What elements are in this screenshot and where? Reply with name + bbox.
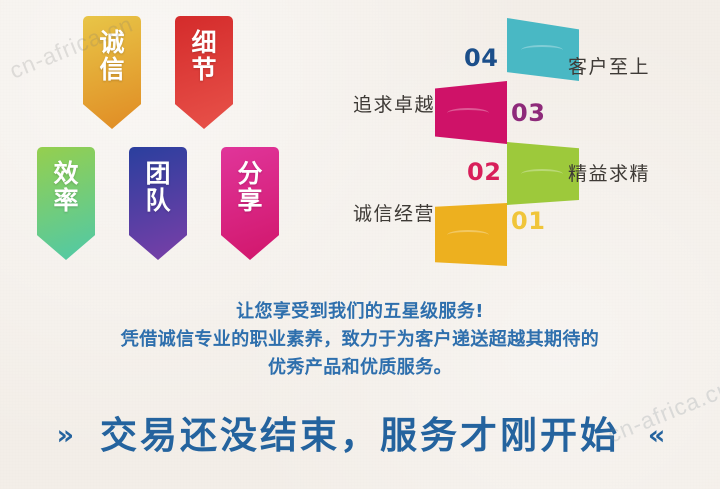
bottom-headline: » 交易还没结束，服务才刚开始 « [0, 405, 720, 459]
ribbon-char-top: 诚 [99, 29, 124, 56]
ribbon-detail: 细 节 [175, 16, 233, 129]
step-label-03: 追求卓越 [353, 90, 435, 117]
ribbon-char-bottom: 队 [145, 187, 170, 214]
step-crease-icon [447, 108, 489, 118]
step-crease-icon [521, 169, 563, 179]
ribbon-char-top: 团 [145, 160, 170, 187]
ribbon-char-bottom: 节 [191, 56, 216, 83]
ribbon-char-bottom: 信 [99, 56, 124, 83]
ribbon-char-top: 分 [237, 160, 262, 187]
poster-canvas: cn-africa.cn cn-africa.cn 诚 信 细 节 效 率 团 … [0, 0, 720, 489]
step-crease-icon [447, 230, 489, 240]
step-crease-icon [521, 45, 563, 55]
step-number-04: 04 [464, 44, 498, 72]
double-chevron-left-icon: « [648, 420, 663, 451]
step-number-03: 03 [511, 99, 545, 127]
promise-line-3: 优秀产品和优质服务。 [0, 354, 720, 382]
ribbon-sharing: 分 享 [221, 147, 279, 260]
headline-text: 交易还没结束，服务才刚开始 [100, 414, 620, 457]
step-label-02: 精益求精 [568, 159, 650, 186]
service-step-group: 04 客户至上 03 追求卓越 02 精益求精 01 诚信经营 [335, 0, 720, 275]
ribbon-integrity: 诚 信 [83, 16, 141, 129]
ribbon-efficiency: 效 率 [37, 147, 95, 260]
promise-line-1: 让您享受到我们的五星级服务! [0, 298, 720, 326]
step-label-01: 诚信经营 [353, 199, 435, 226]
step-shape-01 [435, 203, 507, 266]
step-shape-03 [435, 81, 507, 144]
double-chevron-right-icon: » [57, 420, 72, 451]
ribbon-teamwork: 团 队 [129, 147, 187, 260]
step-number-02: 02 [467, 158, 501, 186]
ribbon-char-bottom: 享 [237, 187, 262, 214]
ribbon-char-bottom: 率 [53, 187, 78, 214]
ribbon-char-top: 效 [53, 160, 78, 187]
step-number-01: 01 [511, 207, 545, 235]
core-values-ribbon-group: 诚 信 细 节 效 率 团 队 分 享 [0, 0, 330, 275]
service-promise-paragraph: 让您享受到我们的五星级服务! 凭借诚信专业的职业素养，致力于为客户递送超越其期待… [0, 298, 720, 382]
step-label-04: 客户至上 [568, 52, 650, 79]
ribbon-char-top: 细 [191, 29, 216, 56]
promise-line-2: 凭借诚信专业的职业素养，致力于为客户递送超越其期待的 [0, 326, 720, 354]
